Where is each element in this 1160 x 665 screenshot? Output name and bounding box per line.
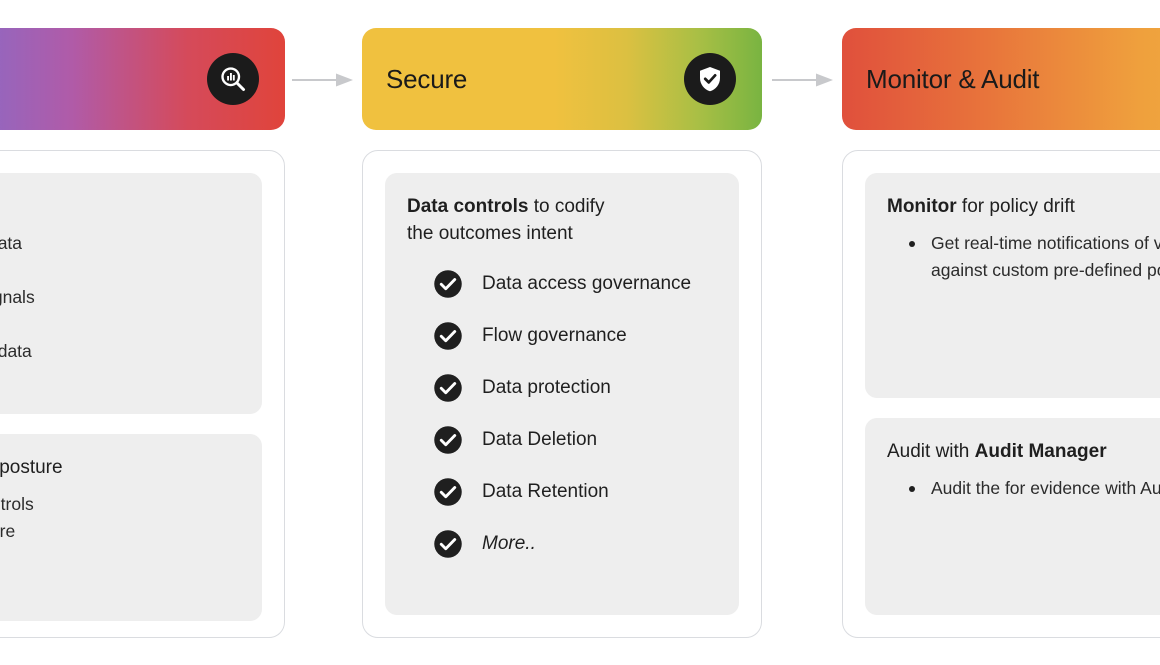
connector-arrow-discover-to-secure bbox=[292, 72, 354, 88]
heading-emphasis: Monitor bbox=[887, 196, 957, 217]
heading-emphasis: Data controls bbox=[407, 196, 528, 217]
panel-heading: Audit with Audit Manager bbox=[887, 438, 1160, 465]
stage-header-monitor: Monitor & Audit bbox=[842, 28, 1160, 130]
panel-heading: e with Essentials posture bbox=[0, 454, 240, 481]
body-line: matically discover data bbox=[0, 233, 22, 253]
check-circle-icon bbox=[433, 477, 463, 507]
check-label: Flow governance bbox=[482, 323, 627, 349]
heading-suffix: for policy drift bbox=[957, 196, 1075, 217]
list-item: More.. bbox=[433, 529, 717, 559]
heading-prefix: Audit with bbox=[887, 441, 975, 462]
panel-secure-data-controls: Data controls to codifythe outcomes inte… bbox=[385, 173, 739, 615]
monitor-bullet-list: Get real-time notifications of violation… bbox=[887, 230, 1160, 284]
list-item: Data protection bbox=[433, 373, 717, 403]
check-label: Data Deletion bbox=[482, 427, 597, 453]
stage-card-discover: r with DataMap matically discover data s… bbox=[0, 150, 285, 638]
audit-bullet-list: Audit the for evidence with Audit Manage… bbox=[887, 475, 1160, 502]
check-circle-icon bbox=[433, 425, 463, 455]
check-circle-icon bbox=[433, 269, 463, 299]
panel-body: matically discover data s in Google Clou… bbox=[0, 230, 240, 392]
check-label: Data access governance bbox=[482, 271, 691, 297]
panel-discover-essentials: e with Essentials posture ate current da… bbox=[0, 434, 262, 621]
panel-discover-datamap: r with DataMap matically discover data s… bbox=[0, 173, 262, 414]
panel-body: ate current data controls st pre-defined… bbox=[0, 491, 240, 599]
secure-checklist: Data access governance Flow governance bbox=[407, 269, 717, 559]
check-circle-icon bbox=[433, 321, 463, 351]
stage-header-secure: Secure bbox=[362, 28, 762, 130]
check-circle-icon bbox=[433, 373, 463, 403]
list-item: Audit the for evidence with Audit Manage… bbox=[909, 475, 1160, 502]
body-line: st pre-defined posture bbox=[0, 521, 15, 541]
heading-emphasis: Audit Manager bbox=[975, 441, 1107, 462]
check-label: Data Retention bbox=[482, 479, 609, 505]
check-circle-icon bbox=[433, 529, 463, 559]
stage-title-secure: Secure bbox=[386, 64, 467, 95]
list-item: Data access governance bbox=[433, 269, 717, 299]
panel-heading: Monitor for policy drift bbox=[887, 193, 1160, 220]
panel-heading: Data controls to codifythe outcomes inte… bbox=[407, 193, 717, 247]
list-item: Data Deletion bbox=[433, 425, 717, 455]
body-line: ay sensitive data signals bbox=[0, 287, 35, 307]
list-item: Data Retention bbox=[433, 477, 717, 507]
stage-title-monitor: Monitor & Audit bbox=[866, 64, 1039, 95]
panel-monitor-policy-drift: Monitor for policy drift Get real-time n… bbox=[865, 173, 1160, 398]
list-item: Flow governance bbox=[433, 321, 717, 351]
stage-column-discover: Discover r with DataMap matically discov… bbox=[0, 0, 285, 665]
stage-card-secure: Data controls to codifythe outcomes inte… bbox=[362, 150, 762, 638]
stage-header-discover: Discover bbox=[0, 28, 285, 130]
stage-column-monitor: Monitor & Audit Monitor for policy drift… bbox=[842, 0, 1160, 665]
process-flow-diagram: Discover r with DataMap matically discov… bbox=[0, 0, 1160, 665]
check-label: Data protection bbox=[482, 375, 611, 401]
stage-column-secure: Secure Data controls to codifythe outcom… bbox=[362, 0, 762, 665]
stage-card-monitor: Monitor for policy drift Get real-time n… bbox=[842, 150, 1160, 638]
panel-audit-manager: Audit with Audit Manager Audit the for e… bbox=[865, 418, 1160, 616]
heading-line2: the outcomes intent bbox=[407, 223, 573, 244]
heading-suffix: posture bbox=[0, 457, 63, 478]
shield-check-icon bbox=[684, 53, 736, 105]
heading-suffix: to codify bbox=[528, 196, 604, 217]
check-label: More.. bbox=[482, 531, 536, 557]
list-item: Get real-time notifications of violation… bbox=[909, 230, 1160, 284]
connector-arrow-secure-to-monitor bbox=[772, 72, 834, 88]
data-search-icon bbox=[207, 53, 259, 105]
panel-heading: r with DataMap bbox=[0, 193, 240, 220]
body-line: rich visualization of data bbox=[0, 341, 32, 361]
body-line: ate current data controls bbox=[0, 494, 34, 514]
